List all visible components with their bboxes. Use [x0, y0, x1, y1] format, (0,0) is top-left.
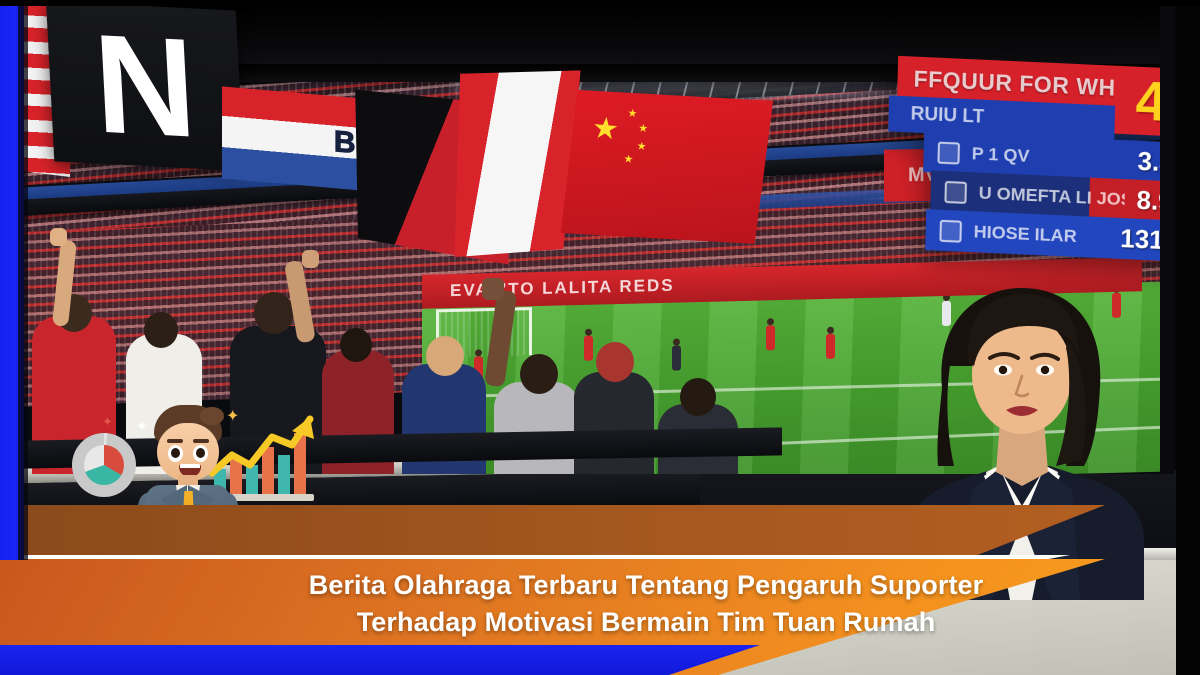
lower-third-top-band — [0, 505, 1105, 557]
scoreboard-row-value: 131 — [1120, 223, 1160, 257]
banner-letter: N — [91, 13, 199, 159]
flag-star-4-icon: ★ — [623, 154, 634, 166]
spectator-head — [340, 328, 372, 362]
scoreboard-row-label: P 1 QV — [971, 143, 1125, 171]
mascot-eye — [193, 445, 208, 462]
mascot-head — [157, 423, 219, 481]
raised-arm — [484, 290, 517, 388]
spectator-head — [144, 312, 178, 348]
square-chip-icon — [944, 180, 967, 203]
gear-icon — [72, 433, 136, 497]
headline-line-2: Terhadap Motivasi Bermain Tim Tuan Rumah — [296, 604, 996, 641]
spectator-head — [520, 354, 558, 394]
square-chip-icon — [939, 219, 962, 242]
mascot-eyebrow — [193, 439, 209, 443]
sparkle-icon: ✦ — [102, 415, 113, 428]
flag-star-1-icon: ★ — [627, 108, 638, 120]
raised-fist — [50, 228, 67, 246]
spectator-head — [254, 292, 294, 334]
mascot-eye — [168, 445, 183, 462]
spectator — [494, 382, 580, 474]
player — [826, 334, 835, 359]
scoreboard-subtitle: RUIU LT — [910, 103, 984, 128]
square-chip-icon — [937, 141, 960, 164]
raised-fist — [302, 250, 319, 268]
letter-banner: N — [46, 4, 244, 171]
lower-third-divider — [0, 555, 1070, 559]
scoreboard-row-value: 8.9 — [1136, 185, 1160, 218]
spectator-head — [426, 336, 464, 376]
flag-star-2-icon: ★ — [638, 123, 649, 135]
scoreboard-overlay: FFQUUR FOR WHILE 4 RUIU LT P 1 QV 3.3 U … — [882, 55, 1160, 236]
studio-floor-blue-strip — [0, 645, 760, 675]
set-left-dark-edge — [18, 0, 28, 560]
flag-star-3-icon: ★ — [636, 141, 647, 153]
flag-star-large-icon: ★ — [591, 113, 620, 145]
broadcast-frame: N BHV MV EVAL'TO LALITA REDS ★ ★ ★ ★ ★ — [0, 0, 1200, 675]
scoreboard-big-number-box: 4 — [1112, 66, 1160, 137]
scoreboard-row-label: U OMEFTA LI JOSIGA — [978, 183, 1124, 211]
china-flag-icon: ★ ★ ★ ★ ★ — [561, 84, 773, 251]
headline-text: Berita Olahraga Terbaru Tentang Pengaruh… — [296, 567, 996, 642]
scoreboard-row-value: 3.3 — [1137, 146, 1160, 179]
red-white-flag-icon — [447, 62, 580, 265]
raised-fist — [482, 278, 504, 300]
scoreboard-row-label: HIOSE ILAR — [973, 221, 1108, 248]
scoreboard-title: FFQUUR FOR WHILE — [913, 65, 1116, 101]
spectator-head — [680, 378, 716, 416]
frame-right-edge — [1176, 0, 1200, 675]
frame-top-edge — [0, 0, 1200, 6]
headline-line-1: Berita Olahraga Terbaru Tentang Pengaruh… — [309, 570, 984, 600]
mascot-eyebrow — [167, 439, 183, 443]
scoreboard-big-number: 4 — [1135, 73, 1160, 130]
spectator-head — [596, 342, 634, 382]
gear-core-pie-icon — [84, 445, 124, 485]
